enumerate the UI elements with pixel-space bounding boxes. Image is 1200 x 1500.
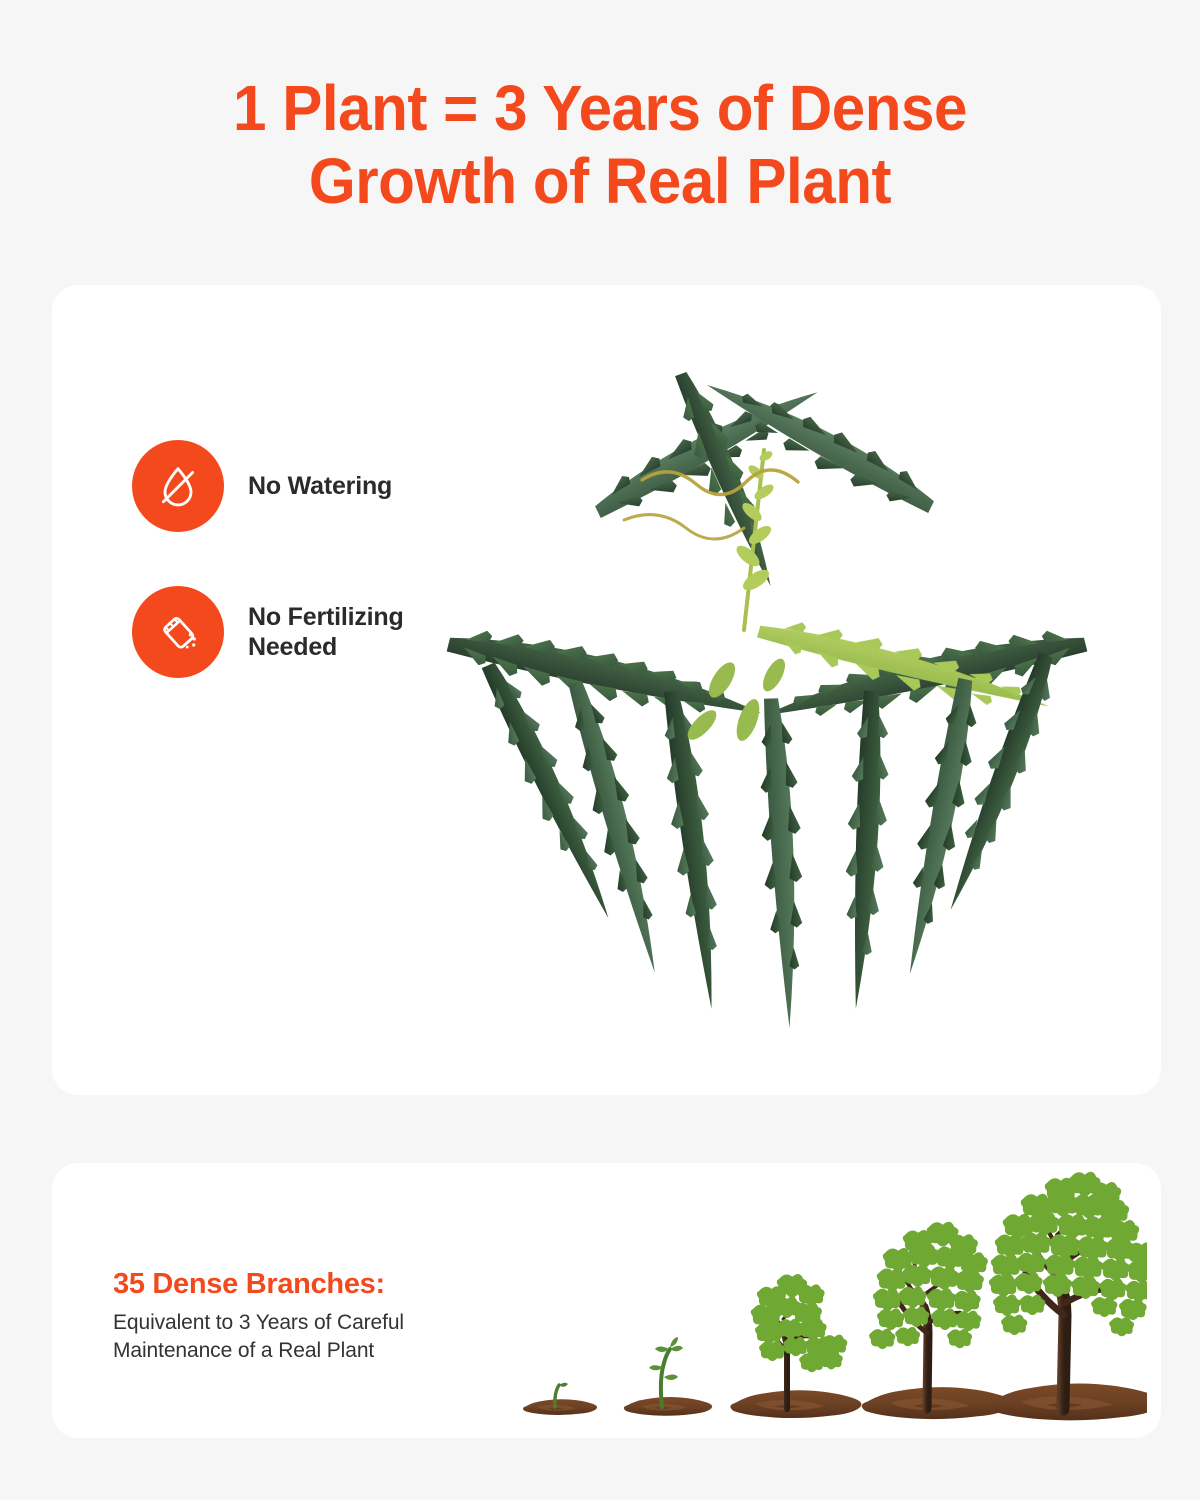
growth-subtext: Equivalent to 3 Years of Careful Mainten… xyxy=(113,1309,533,1364)
no-water-droplet-icon xyxy=(132,440,224,532)
feature-no-fertilizing: No Fertilizing Needed xyxy=(132,586,404,678)
no-fertilizer-icon xyxy=(132,586,224,678)
feature-list: No Watering xyxy=(132,440,404,732)
feature-no-watering: No Watering xyxy=(132,440,404,532)
artificial-fern-image xyxy=(392,330,1132,1050)
feature-label: No Fertilizing Needed xyxy=(248,602,404,663)
growth-text-block: 35 Dense Branches: Equivalent to 3 Years… xyxy=(113,1268,533,1364)
feature-label: No Watering xyxy=(248,471,392,502)
growth-card: 35 Dense Branches: Equivalent to 3 Years… xyxy=(52,1163,1161,1438)
infographic-page: 1 Plant = 3 Years of Dense Growth of Rea… xyxy=(0,0,1200,1500)
tree-growth-stages-illustration xyxy=(507,1171,1147,1439)
page-title: 1 Plant = 3 Years of Dense Growth of Rea… xyxy=(36,72,1164,218)
page-title-line-2: Growth of Real Plant xyxy=(36,145,1164,218)
page-title-line-1: 1 Plant = 3 Years of Dense xyxy=(233,72,967,144)
product-card: No Watering xyxy=(52,285,1161,1095)
growth-heading: 35 Dense Branches: xyxy=(113,1268,533,1301)
